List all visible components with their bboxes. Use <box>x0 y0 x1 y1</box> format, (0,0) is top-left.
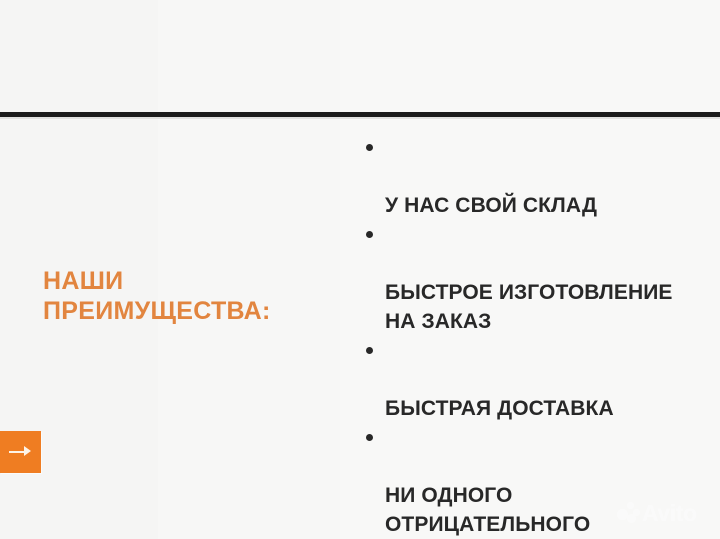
bullet-icon <box>366 144 373 151</box>
bullet-icon <box>366 434 373 441</box>
arrow-right-icon <box>9 450 31 453</box>
list-item: БЫСТРОЕ ИЗГОТОВЛЕНИЕ НА ЗАКАЗ <box>362 220 707 336</box>
list-item: БЫСТРАЯ ДОСТАВКА <box>362 336 707 423</box>
avito-watermark: Avito <box>617 499 703 527</box>
list-item-label: БЫСТРАЯ ДОСТАВКА <box>385 397 614 420</box>
list-item: У НАС СВОЙ СКЛАД <box>362 133 707 220</box>
list-item-label: БЫСТРОЕ ИЗГОТОВЛЕНИЕ НА ЗАКАЗ <box>385 281 673 333</box>
bullet-icon <box>366 347 373 354</box>
avito-dots-icon <box>617 502 640 524</box>
list-item-label: У НАС СВОЙ СКЛАД <box>385 194 597 217</box>
page-title: НАШИ ПРЕИМУЩЕСТВА: <box>43 266 343 326</box>
next-arrow-button[interactable] <box>0 431 41 473</box>
avito-wordmark: Avito <box>642 502 697 525</box>
benefits-list: У НАС СВОЙ СКЛАД БЫСТРОЕ ИЗГОТОВЛЕНИЕ НА… <box>362 133 707 539</box>
bullet-icon <box>366 231 373 238</box>
list-item-label: НИ ОДНОГО ОТРИЦАТЕЛЬНОГО ОТЗЫВА <box>385 484 590 539</box>
top-divider-shadow <box>0 117 720 119</box>
advantages-slide: НАШИ ПРЕИМУЩЕСТВА: У НАС СВОЙ СКЛАД БЫСТ… <box>0 0 720 539</box>
